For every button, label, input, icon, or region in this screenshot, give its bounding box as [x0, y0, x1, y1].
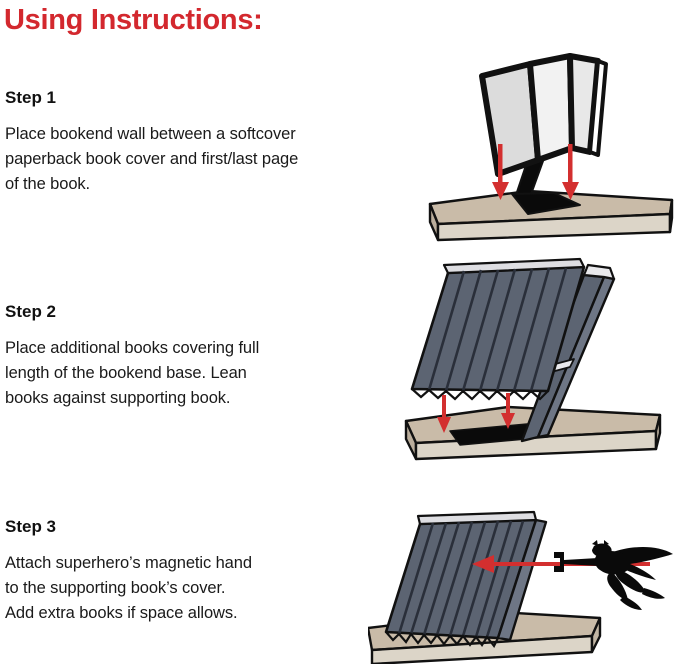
- step-1-block: Step 1 Place bookend wall between a soft…: [5, 89, 435, 197]
- superhero-silhouette: [554, 540, 673, 610]
- step-2-illustration: [388, 255, 679, 472]
- step-2-line-2: length of the bookend base. Lean: [5, 361, 435, 386]
- step-2-line-3: books against supporting book.: [5, 386, 435, 411]
- instruction-sheet: Using Instructions: Step 1 Place bookend…: [0, 0, 679, 664]
- step-3-illustration: [368, 500, 679, 664]
- page-title: Using Instructions:: [4, 4, 263, 37]
- step-1-illustration: [420, 52, 679, 248]
- step-2-heading: Step 2: [5, 303, 435, 322]
- step-2-line-1: Place additional books covering full: [5, 336, 435, 361]
- step-1-body: Place bookend wall between a softcover p…: [5, 122, 435, 197]
- step-1-line-2: paperback book cover and first/last page: [5, 147, 435, 172]
- step-1-line-1: Place bookend wall between a softcover: [5, 122, 435, 147]
- step-1-line-3: of the book.: [5, 172, 435, 197]
- step-1-heading: Step 1: [5, 89, 435, 108]
- step-2-body: Place additional books covering full len…: [5, 336, 435, 411]
- step-2-block: Step 2 Place additional books covering f…: [5, 303, 435, 411]
